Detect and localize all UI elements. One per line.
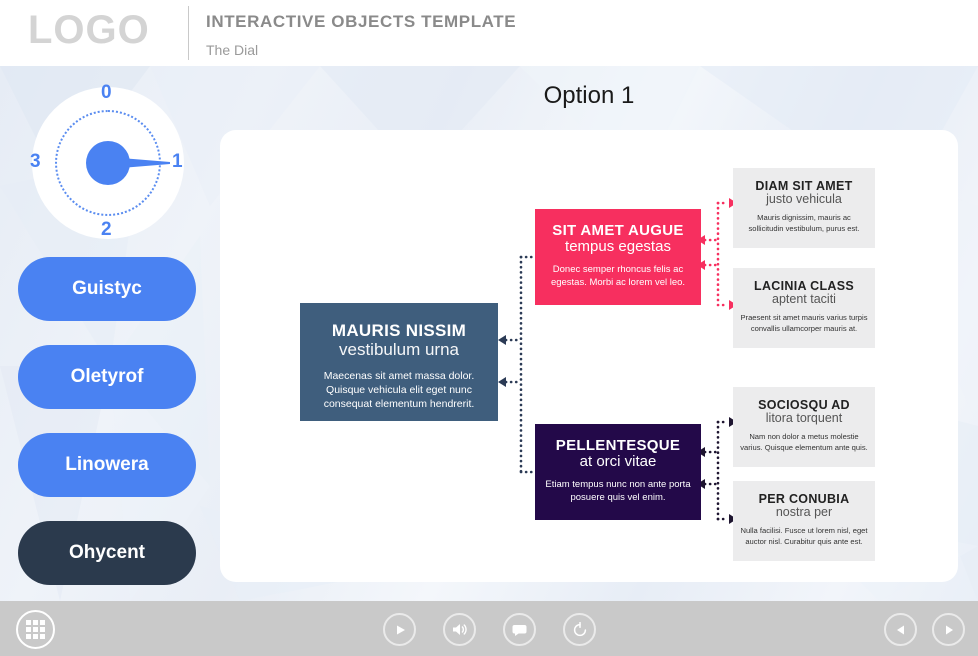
node-root[interactable]: MAURIS NISSIM vestibulum urna Maecenas s… <box>300 303 498 421</box>
node-leaf-subtitle: justo vehicula <box>733 192 875 206</box>
dial-control[interactable]: 0 1 2 3 <box>22 77 194 249</box>
sidebar-button-ohycent[interactable]: Ohycent <box>18 521 196 585</box>
node-branch-pink-title: SIT AMET AUGUE <box>535 222 701 239</box>
app-header: LOGO INTERACTIVE OBJECTS TEMPLATE The Di… <box>0 0 978 66</box>
dial-label-0[interactable]: 0 <box>101 82 112 104</box>
node-branch-pink-body: Donec semper rhoncus felis ac egestas. M… <box>535 263 701 289</box>
node-leaf-title: SOCIOSQU AD <box>733 398 875 412</box>
dial-hub[interactable] <box>86 141 130 185</box>
node-branch-purple[interactable]: PELLENTESQUE at orci vitae Etiam tempus … <box>535 424 701 520</box>
replay-icon <box>572 622 588 638</box>
sidebar-button-oletyrof[interactable]: Oletyrof <box>18 345 196 409</box>
node-root-body: Maecenas sit amet massa dolor. Quisque v… <box>300 369 498 411</box>
header-divider <box>188 6 189 60</box>
node-branch-purple-subtitle: at orci vitae <box>535 453 701 470</box>
node-branch-purple-title: PELLENTESQUE <box>535 437 701 454</box>
node-leaf-body: Mauris dignissim, mauris ac sollicitudin… <box>733 213 875 234</box>
dial-label-1[interactable]: 1 <box>172 151 183 173</box>
node-leaf-body: Nam non dolor a metus molestie varius. Q… <box>733 432 875 453</box>
replay-button[interactable] <box>563 613 596 646</box>
node-leaf-diam-sit-amet[interactable]: DIAM SIT AMET justo vehicula Mauris dign… <box>733 168 875 248</box>
node-leaf-per-conubia[interactable]: PER CONUBIA nostra per Nulla facilisi. F… <box>733 481 875 561</box>
node-leaf-body: Nulla facilisi. Fusce ut lorem nisl, ege… <box>733 526 875 547</box>
node-leaf-subtitle: litora torquent <box>733 411 875 425</box>
node-leaf-title: PER CONUBIA <box>733 492 875 506</box>
node-leaf-sociosqu-ad[interactable]: SOCIOSQU AD litora torquent Nam non dolo… <box>733 387 875 467</box>
comment-button[interactable] <box>503 613 536 646</box>
node-leaf-lacinia-class[interactable]: LACINIA CLASS aptent taciti Praesent sit… <box>733 268 875 348</box>
comment-icon <box>511 623 528 637</box>
play-icon <box>393 623 407 637</box>
dial-label-3[interactable]: 3 <box>30 151 41 173</box>
node-leaf-subtitle: nostra per <box>733 505 875 519</box>
node-leaf-body: Praesent sit amet mauris varius turpis c… <box>733 313 875 334</box>
sidebar-button-linowera[interactable]: Linowera <box>18 433 196 497</box>
play-button[interactable] <box>383 613 416 646</box>
dial-label-2[interactable]: 2 <box>101 219 112 241</box>
header-title: INTERACTIVE OBJECTS TEMPLATE <box>206 12 516 32</box>
next-icon <box>942 623 956 637</box>
node-branch-purple-body: Etiam tempus nunc non ante porta posuere… <box>535 478 701 504</box>
previous-icon <box>894 623 908 637</box>
node-leaf-title: LACINIA CLASS <box>733 279 875 293</box>
node-branch-pink[interactable]: SIT AMET AUGUE tempus egestas Donec semp… <box>535 209 701 305</box>
player-toolbar <box>0 601 978 656</box>
volume-icon <box>451 622 468 637</box>
logo: LOGO <box>28 8 150 53</box>
node-leaf-title: DIAM SIT AMET <box>733 179 875 193</box>
grid-menu-button[interactable] <box>16 610 55 649</box>
grid-menu-icon <box>26 620 45 639</box>
next-button[interactable] <box>932 613 965 646</box>
node-root-subtitle: vestibulum urna <box>300 340 498 360</box>
slide-stage: LOGO INTERACTIVE OBJECTS TEMPLATE The Di… <box>0 0 978 656</box>
page-title: Option 1 <box>220 82 958 110</box>
node-branch-pink-subtitle: tempus egestas <box>535 238 701 255</box>
node-leaf-subtitle: aptent taciti <box>733 292 875 306</box>
volume-button[interactable] <box>443 613 476 646</box>
sidebar-button-guistyc[interactable]: Guistyc <box>18 257 196 321</box>
node-root-title: MAURIS NISSIM <box>300 321 498 341</box>
previous-button[interactable] <box>884 613 917 646</box>
header-subtitle: The Dial <box>206 42 258 58</box>
